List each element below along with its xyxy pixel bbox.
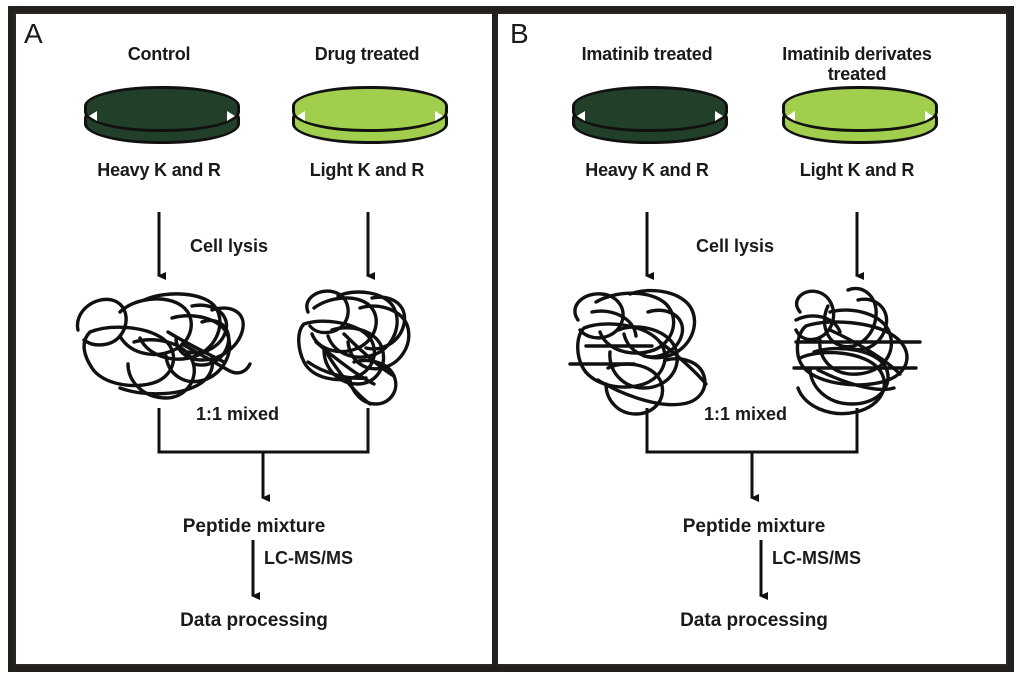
panel-a: A Control Heavy K and R Drug treated xyxy=(16,12,492,666)
merge-bracket-icon xyxy=(647,408,857,452)
tangled-protein-icon xyxy=(570,291,706,414)
panel-a-graphics xyxy=(16,12,492,666)
silac-workflow-figure: A Control Heavy K and R Drug treated xyxy=(0,0,1024,690)
merge-bracket-icon xyxy=(159,408,368,452)
tangled-protein-icon xyxy=(77,294,250,398)
tangled-protein-icon xyxy=(299,291,409,404)
tangled-protein-icon xyxy=(794,288,920,413)
panel-divider xyxy=(492,12,498,666)
panel-b: B Imatinib treated Heavy K and R Imatini… xyxy=(500,12,1008,666)
panel-b-graphics xyxy=(500,12,1008,666)
